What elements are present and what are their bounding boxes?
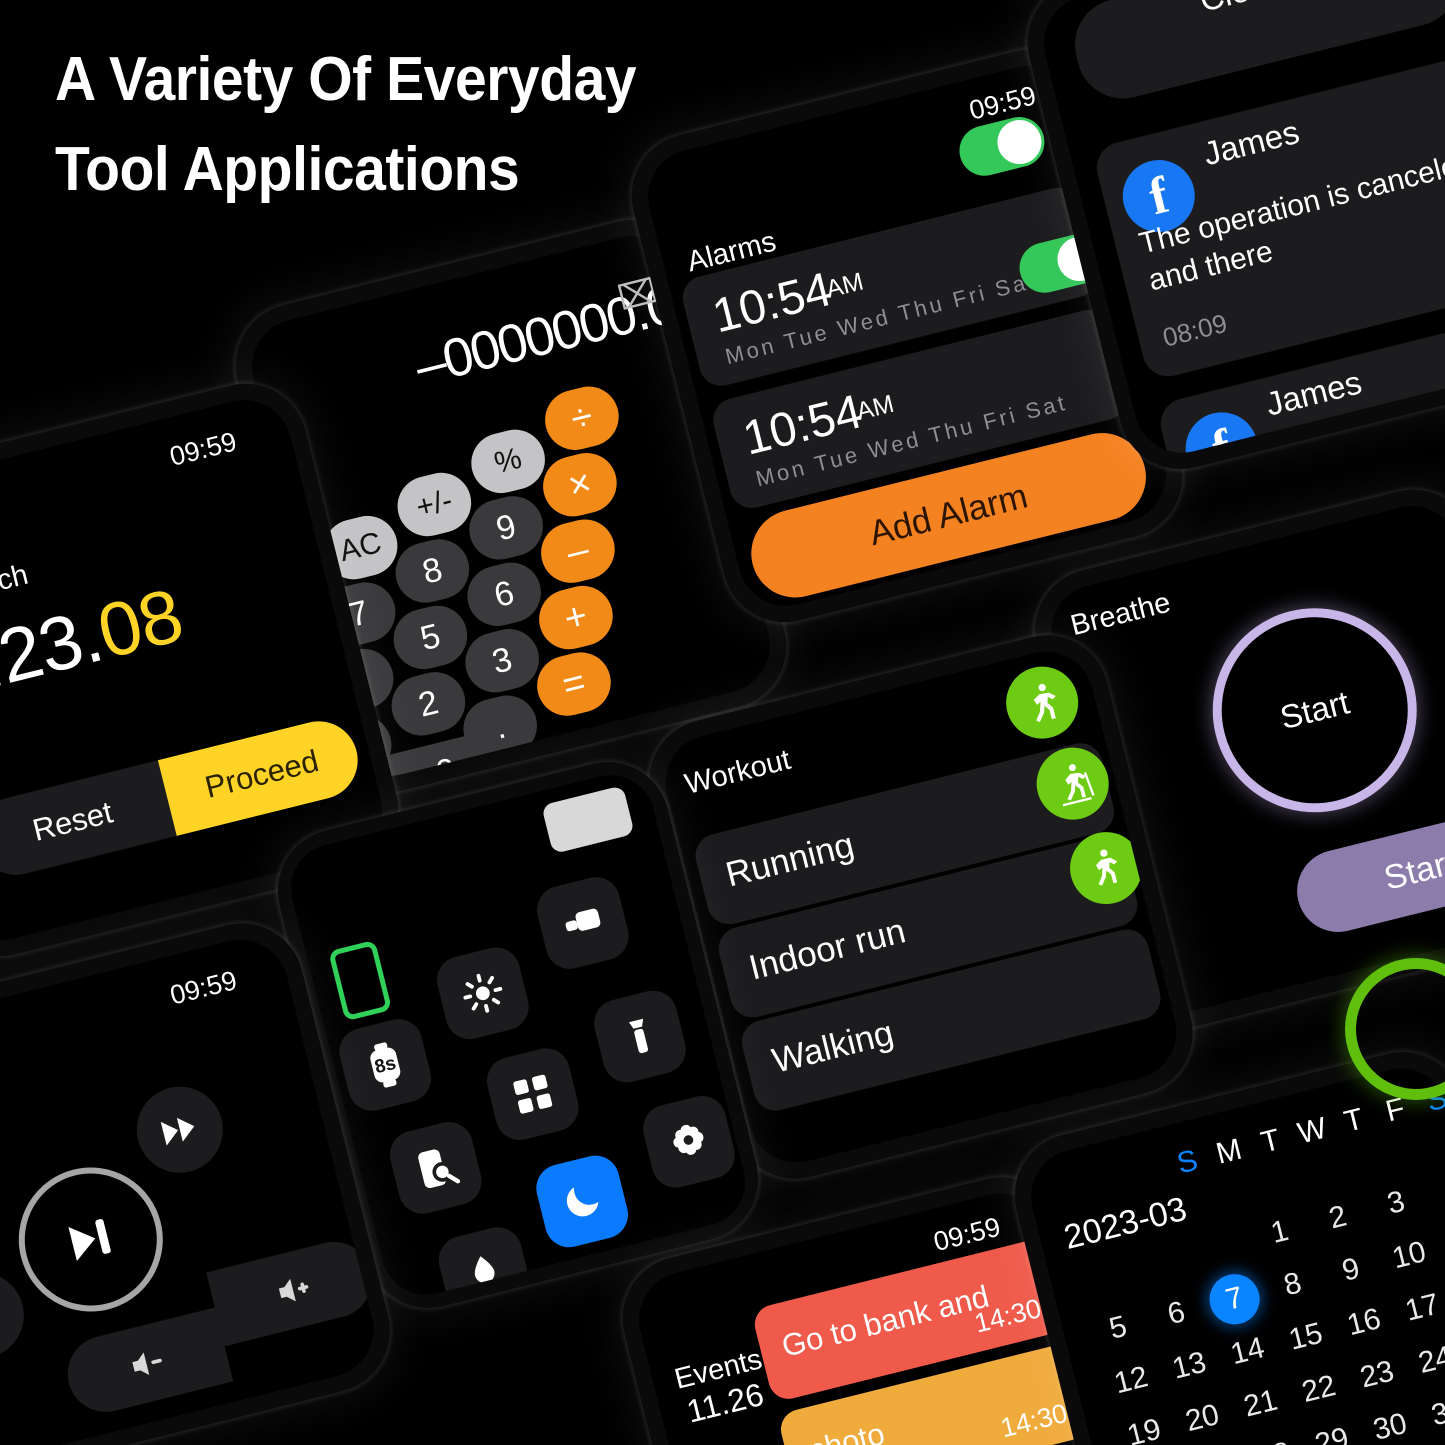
runner-icon (999, 659, 1086, 746)
status-time: 09:59 (167, 426, 240, 472)
key-minus[interactable]: – (535, 513, 621, 589)
screen-title: Breathe (1067, 587, 1174, 644)
key-multiply[interactable]: × (537, 447, 623, 523)
notification-time: 08:09 (1160, 308, 1231, 354)
key-plus[interactable]: + (533, 580, 619, 656)
notification-sender: James (1262, 363, 1366, 423)
screen-record-icon[interactable] (532, 872, 634, 974)
key-6[interactable]: 6 (461, 556, 547, 632)
event-title: photo (804, 1416, 888, 1445)
volume-down-button[interactable] (60, 1308, 234, 1420)
apps-grid-icon[interactable] (482, 1043, 584, 1145)
flashlight-icon[interactable] (589, 986, 691, 1088)
reset-button[interactable]: Reset (0, 760, 177, 883)
notification-card[interactable]: f James The operation is canceled, and t… (1091, 50, 1445, 382)
screen-title: Workout (682, 744, 794, 802)
toggle-knob (993, 115, 1046, 168)
do-not-disturb-icon[interactable] (531, 1151, 633, 1253)
proceed-button[interactable]: Proceed (158, 713, 366, 836)
alarm-ampm: AM (854, 390, 897, 427)
workout-label: Running (722, 825, 858, 895)
event-title: Go to bank and (778, 1279, 992, 1365)
water-lock-icon[interactable] (434, 1222, 536, 1304)
play-pause-icon[interactable] (4, 1152, 179, 1327)
calendar-day-selected: 7 (1204, 1269, 1265, 1330)
key-divide[interactable]: ÷ (539, 380, 625, 456)
previous-track-icon[interactable] (0, 1263, 33, 1367)
notification-body: The operation is canceled, and there (1135, 138, 1445, 301)
key-equals[interactable]: = (531, 646, 617, 722)
battery-icon (541, 785, 635, 854)
facebook-icon: f (1178, 405, 1265, 463)
phone-green-icon[interactable] (328, 940, 392, 1021)
notification-sender: James (1200, 113, 1304, 173)
key-9[interactable]: 9 (463, 490, 549, 566)
stopwatch-elapsed: 00:23.08 (0, 535, 338, 726)
control-center-grid: 8s (317, 849, 647, 931)
poster-canvas: A Variety Of Everyday Tool Applications … (0, 0, 1445, 1445)
breathe-ring-start-button[interactable]: Start (1191, 587, 1438, 834)
volume-up-button[interactable] (206, 1234, 380, 1346)
next-track-icon[interactable] (128, 1078, 232, 1182)
watch-8s-icon[interactable]: 8s (334, 1014, 436, 1116)
key-3[interactable]: 3 (459, 623, 545, 699)
key-8[interactable]: 8 (389, 533, 475, 609)
brightness-icon[interactable] (432, 942, 534, 1044)
alarm-toggle[interactable] (954, 112, 1050, 181)
calendar-grid: 1234567891011121314151617181920212223242… (1069, 1155, 1445, 1445)
key-5[interactable]: 5 (387, 599, 473, 675)
event-time: 14:30 (998, 1398, 1071, 1444)
alarm-ampm: AM (823, 267, 866, 304)
key-sign[interactable]: +/- (391, 466, 477, 542)
workout-label: Indoor run (745, 911, 909, 988)
workout-label: Walking (768, 1013, 897, 1082)
status-time: 09:59 (167, 965, 240, 1011)
breathe-start-button[interactable]: Start (1288, 801, 1445, 941)
key-2[interactable]: 2 (385, 666, 471, 742)
key-percent[interactable]: % (465, 423, 551, 499)
find-phone-icon[interactable] (385, 1117, 487, 1219)
camera-icon[interactable] (638, 1091, 740, 1193)
headline-line-1: A Variety Of Everyday (55, 35, 837, 125)
calendar-screen: 2023-03 SMTWTFS 123456789101112131415161… (1021, 1058, 1445, 1445)
